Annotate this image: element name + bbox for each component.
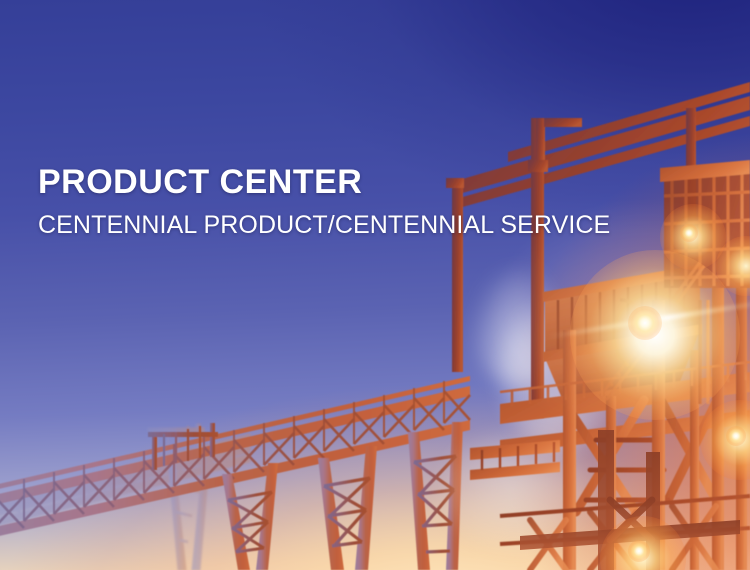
page-subtitle: CENTENNIAL PRODUCT/CENTENNIAL SERVICE [38,211,610,240]
foreground-silhouette-layer [0,0,750,570]
banner-caption: PRODUCT CENTER CENTENNIAL PRODUCT/CENTEN… [38,162,610,240]
page-title: PRODUCT CENTER [38,162,610,202]
product-center-hero-banner: PRODUCT CENTER CENTENNIAL PRODUCT/CENTEN… [0,0,750,570]
